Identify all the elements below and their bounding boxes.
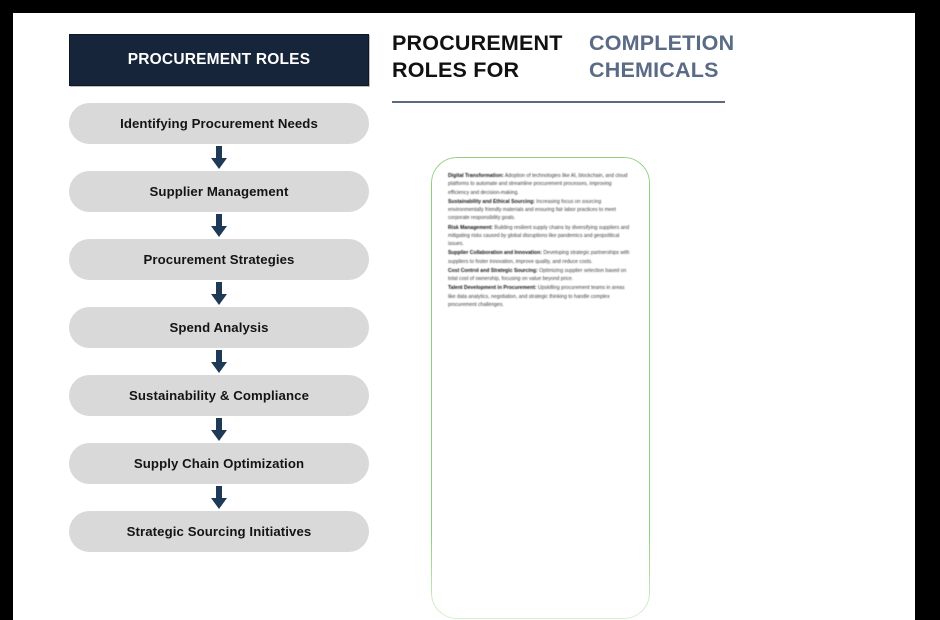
- flowchart-header-label: PROCUREMENT ROLES: [128, 51, 311, 69]
- title-divider: [392, 101, 725, 103]
- card-paragraph-heading: Supplier Collaboration and Innovation:: [448, 250, 542, 256]
- flow-step-supply-chain-optimization[interactable]: Supply Chain Optimization: [69, 443, 369, 484]
- card-paragraph-cost-control-and-strategic-sourcing: Cost Control and Strategic Sourcing: Opt…: [448, 267, 633, 284]
- page-title-accent: COMPLETION CHEMICALS: [589, 30, 789, 83]
- right-column: PROCUREMENT ROLES FOR COMPLETION CHEMICA…: [392, 30, 902, 103]
- card-paragraph-heading: Digital Transformation:: [448, 173, 504, 179]
- flow-step-label: Strategic Sourcing Initiatives: [127, 524, 312, 539]
- flow-arrow-down-icon: [69, 484, 369, 511]
- card-paragraph-risk-management: Risk Management: Building resilient supp…: [448, 224, 633, 249]
- flow-arrow-down-icon: [69, 348, 369, 375]
- flow-step-procurement-strategies[interactable]: Procurement Strategies: [69, 239, 369, 280]
- flow-arrow-down-icon: [69, 144, 369, 171]
- flow-arrow-down-icon: [69, 280, 369, 307]
- page-title: PROCUREMENT ROLES FOR COMPLETION CHEMICA…: [392, 30, 902, 83]
- card-paragraph-heading: Cost Control and Strategic Sourcing:: [448, 268, 538, 274]
- card-paragraph-digital-transformation: Digital Transformation: Adoption of tech…: [448, 172, 633, 197]
- flow-step-supplier-management[interactable]: Supplier Management: [69, 171, 369, 212]
- card-paragraph-heading: Risk Management:: [448, 225, 493, 231]
- flow-step-identifying-procurement-needs[interactable]: Identifying Procurement Needs: [69, 103, 369, 144]
- flow-step-label: Spend Analysis: [169, 320, 268, 335]
- flow-step-sustainability-and-compliance[interactable]: Sustainability & Compliance: [69, 375, 369, 416]
- flow-step-label: Sustainability & Compliance: [129, 388, 309, 403]
- flowchart-header-banner: PROCUREMENT ROLES: [69, 34, 369, 86]
- page-title-main: PROCUREMENT ROLES FOR: [392, 30, 567, 83]
- procurement-roles-flowchart: PROCUREMENT ROLES Identifying Procuremen…: [69, 34, 369, 552]
- card-paragraph-talent-development-in-procurement: Talent Development in Procurement: Upski…: [448, 284, 633, 309]
- flow-step-strategic-sourcing-initiatives[interactable]: Strategic Sourcing Initiatives: [69, 511, 369, 552]
- card-paragraph-heading: Sustainability and Ethical Sourcing:: [448, 199, 535, 205]
- flow-step-spend-analysis[interactable]: Spend Analysis: [69, 307, 369, 348]
- flowchart-step-list: Identifying Procurement Needs Supplier M…: [69, 103, 369, 552]
- slide-canvas: PROCUREMENT ROLES Identifying Procuremen…: [13, 13, 915, 620]
- card-paragraph-heading: Talent Development in Procurement:: [448, 285, 537, 291]
- details-card: Digital Transformation: Adoption of tech…: [431, 157, 650, 619]
- flow-step-label: Supplier Management: [150, 184, 289, 199]
- flow-arrow-down-icon: [69, 416, 369, 443]
- flow-arrow-down-icon: [69, 212, 369, 239]
- card-paragraph-sustainability-and-ethical-sourcing: Sustainability and Ethical Sourcing: Inc…: [448, 198, 633, 223]
- flow-step-label: Supply Chain Optimization: [134, 456, 304, 471]
- flow-step-label: Procurement Strategies: [144, 252, 295, 267]
- flow-step-label: Identifying Procurement Needs: [120, 116, 318, 131]
- card-paragraph-supplier-collaboration-and-innovation: Supplier Collaboration and Innovation: D…: [448, 249, 633, 266]
